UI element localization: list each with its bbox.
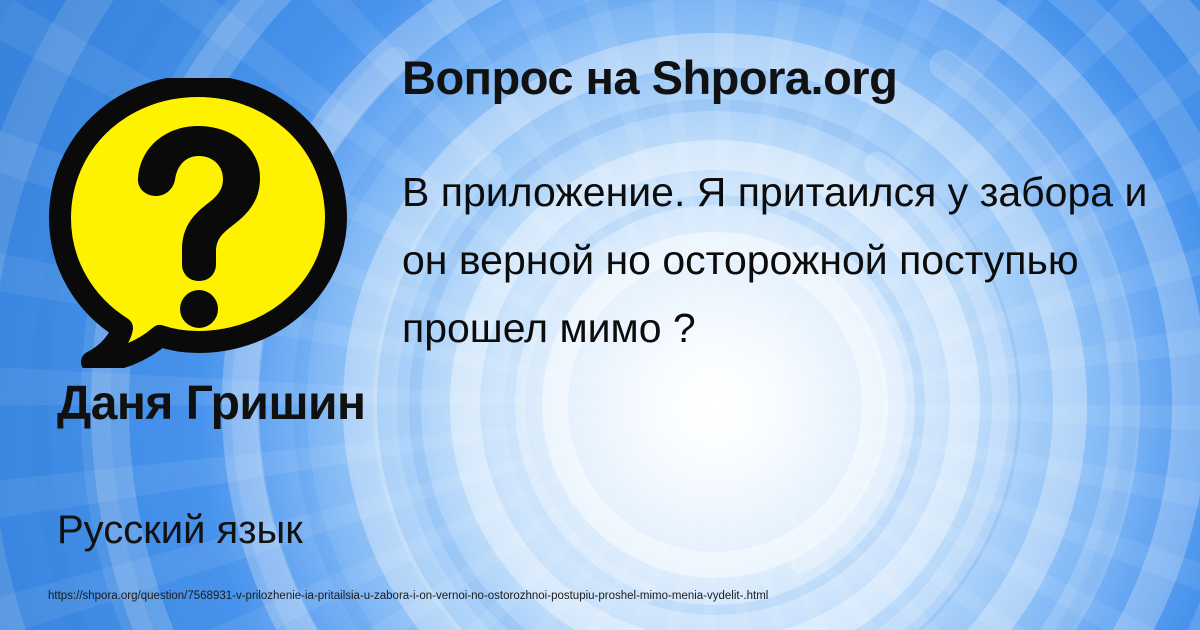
page-title: Вопрос на Shpora.org [402,50,1182,106]
source-url[interactable]: https://shpora.org/question/7568931-v-pr… [48,590,768,602]
question-share-card: Вопрос на Shpora.org В приложение. Я при… [0,0,1200,630]
author-name: Даня Гришин [57,378,387,430]
question-speech-bubble-icon [48,78,348,368]
subject-label: Русский язык [57,506,397,554]
question-text: В приложение. Я притаился у забора и он … [402,158,1174,362]
